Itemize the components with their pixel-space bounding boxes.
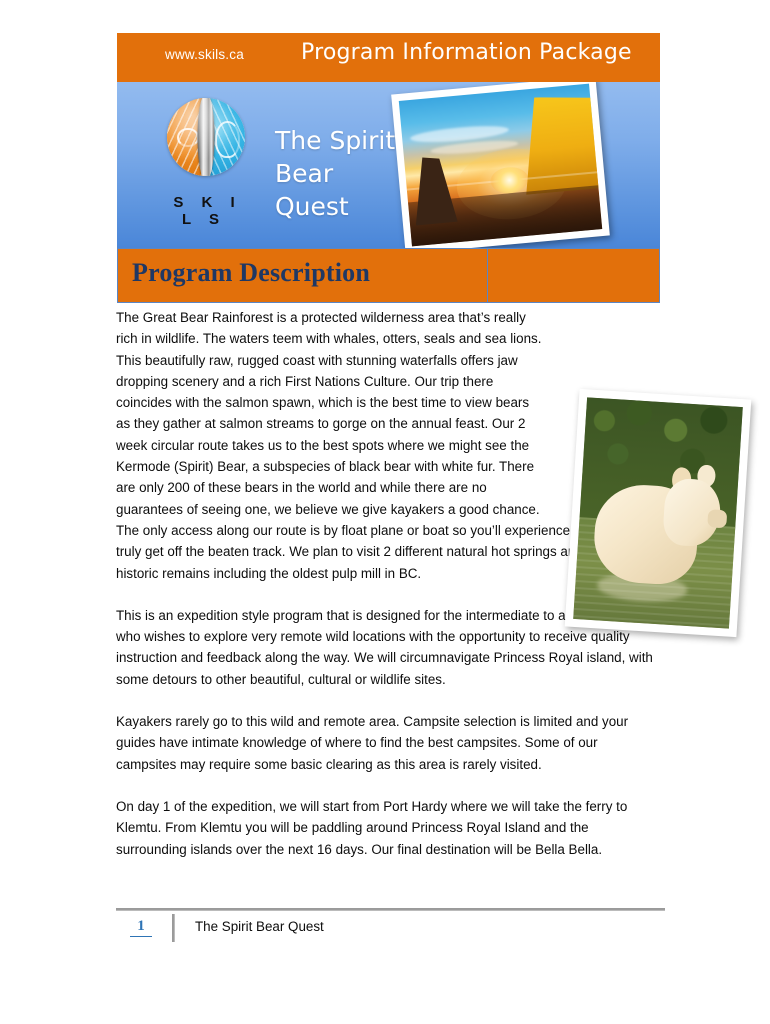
- program-title: The Spirit Bear Quest: [275, 124, 395, 223]
- package-title: Program Information Package: [301, 40, 632, 65]
- skils-logo: S K I L S: [155, 98, 253, 228]
- sunset-photo-image: [399, 84, 602, 247]
- footer-vertical-divider: [172, 914, 175, 942]
- program-title-line-2: Bear: [275, 157, 395, 190]
- page-footer: 1 The Spirit Bear Quest: [116, 908, 665, 948]
- program-title-line-1: The Spirit: [275, 124, 395, 157]
- spirit-bear-photo-image: [573, 397, 743, 628]
- skils-wordmark: S K I L S: [155, 194, 253, 228]
- footer-document-title: The Spirit Bear Quest: [195, 919, 324, 934]
- skils-sphere-icon: [167, 98, 245, 176]
- paragraph-3: Kayakers rarely go to this wild and remo…: [116, 711, 656, 775]
- spirit-bear-photo: [565, 389, 752, 637]
- paragraph-4: On day 1 of the expedition, we will star…: [116, 796, 656, 860]
- bear-snout-shape: [707, 509, 727, 528]
- document-page: www.skils.ca Program Information Package…: [0, 0, 770, 1024]
- sunset-photo: [391, 82, 610, 248]
- program-header-block: www.skils.ca Program Information Package…: [117, 33, 660, 303]
- kayak-silhouette: [410, 155, 458, 226]
- program-title-line-3: Quest: [275, 190, 395, 223]
- section-title: Program Description: [132, 258, 370, 288]
- footer-divider-rule: [116, 908, 665, 911]
- program-description-band: Program Description: [117, 248, 660, 303]
- header-orange-bar: www.skils.ca Program Information Package: [117, 33, 660, 82]
- yellow-tent-shape: [518, 92, 603, 195]
- sphere-chrome-spindle: [198, 98, 215, 176]
- page-number: 1: [130, 918, 152, 937]
- header-blue-band: S K I L S The Spirit Bear Quest: [117, 82, 660, 248]
- site-url: www.skils.ca: [165, 47, 244, 62]
